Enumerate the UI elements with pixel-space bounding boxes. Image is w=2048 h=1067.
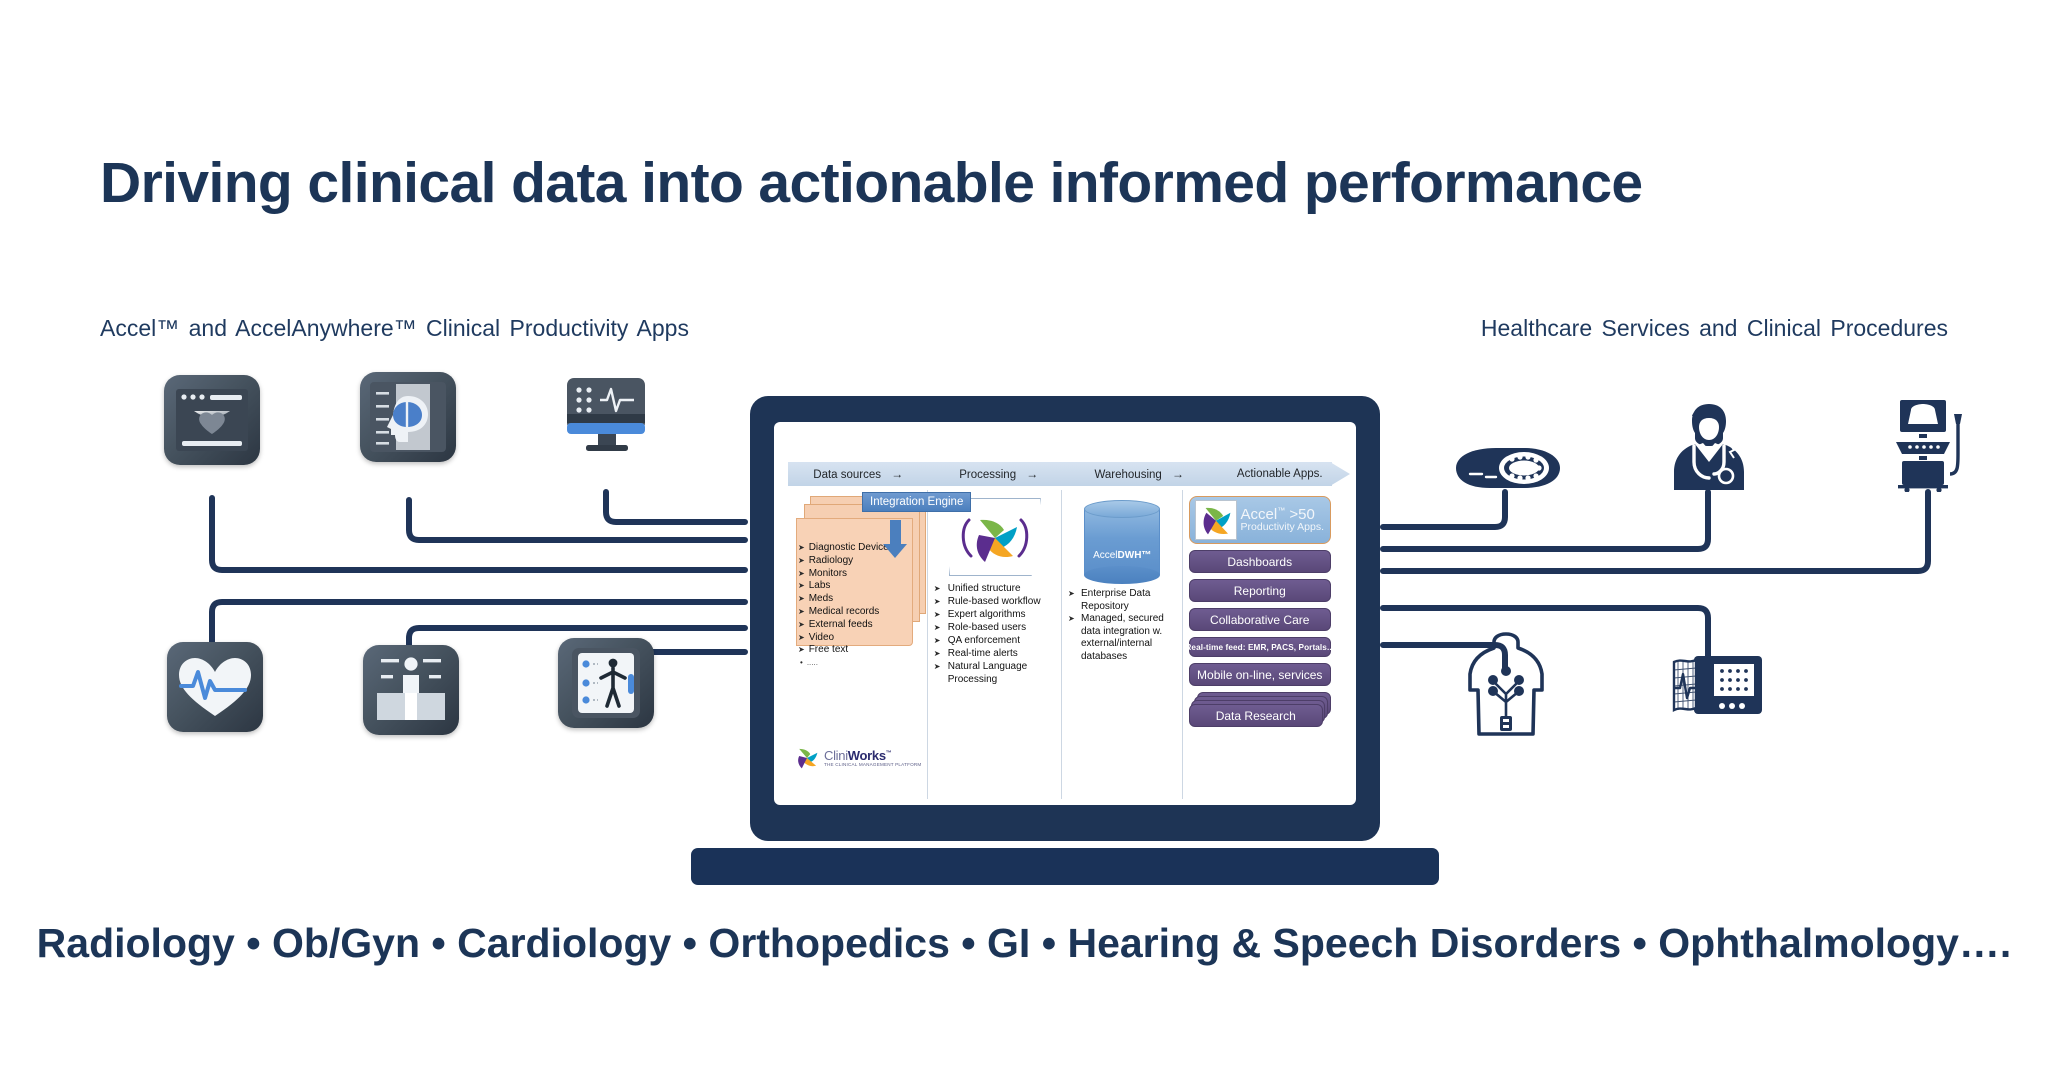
list-item: Unified structure — [934, 582, 1056, 595]
list-item: Real-time alerts — [934, 647, 1056, 660]
integration-engine-badge: Integration Engine — [862, 492, 971, 512]
list-item: Expert algorithms — [934, 608, 1056, 621]
ribbon-label: Actionable Apps. — [1237, 468, 1323, 480]
data-sources-sheet-stack: Integration Engine Diagnostic Devices Ra… — [794, 496, 922, 646]
accel-name: Accel — [1241, 506, 1278, 523]
specialties-footer: Radiology • Ob/Gyn • Cardiology • Orthop… — [0, 920, 2048, 967]
ribbon-step-actionable-apps: Actionable Apps. — [1210, 468, 1351, 480]
arrow-right-icon: → — [891, 467, 903, 481]
list-item: data integration w. — [1068, 626, 1177, 639]
wire-left-4 — [212, 602, 745, 665]
list-item: Radiology — [798, 555, 928, 568]
list-item: Managed, secured — [1068, 613, 1177, 626]
list-item: Natural Language — [934, 660, 1056, 673]
slide-canvas: Driving clinical data into actionable in… — [0, 0, 2048, 1067]
list-item: Role-based users — [934, 621, 1056, 634]
brain-mri-icon[interactable] — [360, 372, 456, 462]
accel-apps-card[interactable]: Accel™ >50 Productivity Apps. — [1189, 496, 1331, 544]
list-item: External feeds — [798, 619, 928, 632]
process-ribbon: Data sources → Processing → Warehousing … — [788, 462, 1350, 486]
ecg-printout-device-icon[interactable] — [1672, 652, 1764, 720]
ecg-electrodes-torso-icon[interactable] — [1460, 630, 1552, 738]
db-label-bold: DWH™ — [1118, 550, 1152, 561]
processing-list: Unified structure Rule-based workflow Ex… — [934, 582, 1056, 686]
wire-left-3 — [606, 492, 745, 522]
warehousing-list: Enterprise Data Repository Managed, secu… — [1068, 588, 1177, 664]
wire-left-1 — [212, 498, 745, 570]
list-item: Repository — [1068, 601, 1177, 614]
logo-tm: ™ — [886, 750, 892, 756]
list-item: QA enforcement — [934, 634, 1056, 647]
laptop-screen: Data sources → Processing → Warehousing … — [774, 422, 1356, 805]
integration-arrow-head-icon — [883, 544, 907, 558]
app-button-data-research[interactable]: Data Research — [1189, 704, 1323, 727]
ribbon-label: Data sources — [813, 469, 881, 481]
database-cylinder-icon: AccelDWH™ — [1084, 500, 1160, 584]
data-sources-list: Diagnostic Devices Radiology Monitors La… — [798, 542, 928, 670]
logo-tagline: THE CLINICAL MANAGEMENT PLATFORM — [824, 763, 921, 768]
data-research-stack[interactable]: Data Research — [1189, 692, 1331, 728]
app-button-collaborative-care[interactable]: Collaborative Care — [1189, 608, 1331, 631]
ribbon-label: Warehousing — [1094, 469, 1161, 481]
column-warehousing: AccelDWH™ Enterprise Data Repository Man… — [1062, 490, 1183, 799]
accel-count: >50 — [1285, 506, 1315, 523]
app-button-reporting[interactable]: Reporting — [1189, 579, 1331, 602]
architecture-diagram: Data sources → Processing → Warehousing … — [788, 462, 1350, 799]
list-item: Labs — [798, 580, 928, 593]
app-button-mobile-online[interactable]: Mobile on-line, services — [1189, 663, 1331, 686]
app-button-dashboards[interactable]: Dashboards — [1189, 550, 1331, 573]
patient-chart-icon[interactable] — [558, 638, 654, 728]
ribbon-step-warehousing: Warehousing → — [1069, 467, 1210, 481]
ribbon-step-data-sources: Data sources → — [788, 467, 929, 481]
list-item: Monitors — [798, 568, 928, 581]
arrow-right-icon: → — [1026, 467, 1038, 481]
artery-cross-section-icon[interactable] — [1450, 430, 1566, 492]
wire-right-3 — [1383, 492, 1928, 571]
list-item: databases — [1068, 651, 1177, 664]
app-button-realtime-feed[interactable]: Real-time feed: EMR, PACS, Portals... — [1189, 637, 1331, 657]
column-processing: Unified structure Rule-based workflow Ex… — [928, 490, 1062, 799]
list-item: Enterprise Data — [1068, 588, 1177, 601]
list-item: Meds — [798, 593, 928, 606]
list-item: external/internal — [1068, 638, 1177, 651]
ribbon-step-processing: Processing → — [929, 467, 1070, 481]
cliniworks-mark-icon — [794, 745, 820, 771]
ribbon-label: Processing — [959, 469, 1016, 481]
accel-logo-box — [1195, 500, 1237, 540]
doctor-stethoscope-icon[interactable] — [1668, 400, 1750, 492]
ultrasound-scan-icon[interactable] — [164, 375, 260, 465]
accel-title: Accel™ >50 — [1241, 507, 1324, 523]
list-item: ..... — [798, 657, 928, 670]
db-label-light: Accel — [1093, 550, 1117, 561]
cylinder-bottom — [1084, 566, 1160, 584]
column-data-sources: Integration Engine Diagnostic Devices Ra… — [788, 490, 928, 799]
cliniworks-logo: CliniWorks™ THE CLINICAL MANAGEMENT PLAT… — [794, 745, 921, 771]
body-scanner-icon[interactable] — [363, 645, 459, 735]
list-item: Processing — [934, 673, 1056, 686]
list-item: Rule-based workflow — [934, 595, 1056, 608]
list-item: Diagnostic Devices — [798, 542, 928, 555]
list-item: Video — [798, 632, 928, 645]
list-item: Medical records — [798, 606, 928, 619]
cylinder-top — [1084, 500, 1160, 518]
database-label: AccelDWH™ — [1084, 550, 1160, 561]
wire-right-2 — [1383, 492, 1708, 549]
ultrasound-machine-icon[interactable] — [1888, 396, 1970, 492]
list-item: Free text — [798, 644, 928, 657]
laptop-base — [691, 848, 1439, 885]
logo-name-light: Clini — [824, 748, 848, 763]
heart-ecg-icon[interactable] — [167, 642, 263, 732]
logo-name-bold: Works — [848, 748, 886, 763]
patient-monitor-icon[interactable] — [558, 370, 654, 460]
integration-arrow-stem — [890, 520, 901, 546]
wire-right-1 — [1383, 492, 1505, 527]
accel-subtitle: Productivity Apps. — [1241, 522, 1324, 533]
accel-star-icon — [1199, 504, 1233, 536]
column-actionable-apps: Accel™ >50 Productivity Apps. Dashboards… — [1183, 490, 1336, 799]
laptop-lid: Data sources → Processing → Warehousing … — [750, 396, 1380, 841]
arrow-right-icon: → — [1172, 467, 1184, 481]
